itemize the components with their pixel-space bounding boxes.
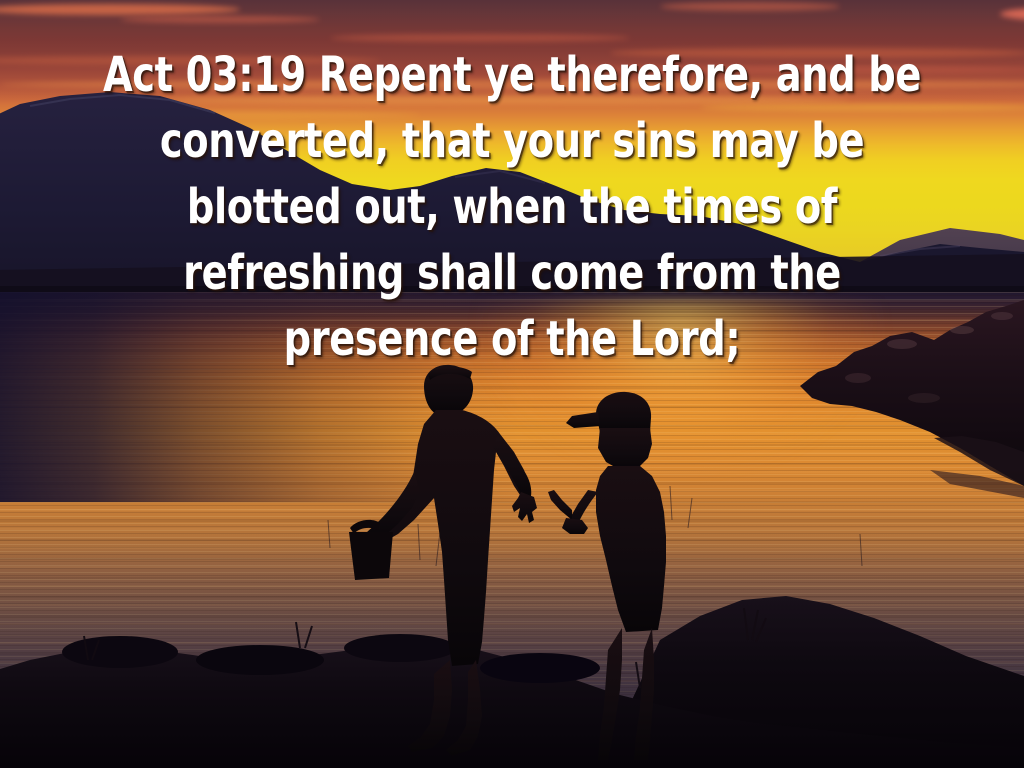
silhouette-figures bbox=[0, 0, 1024, 768]
boy-silhouette bbox=[548, 392, 666, 760]
scripture-image: Act 03:19 Repent ye therefore, and be co… bbox=[0, 0, 1024, 768]
